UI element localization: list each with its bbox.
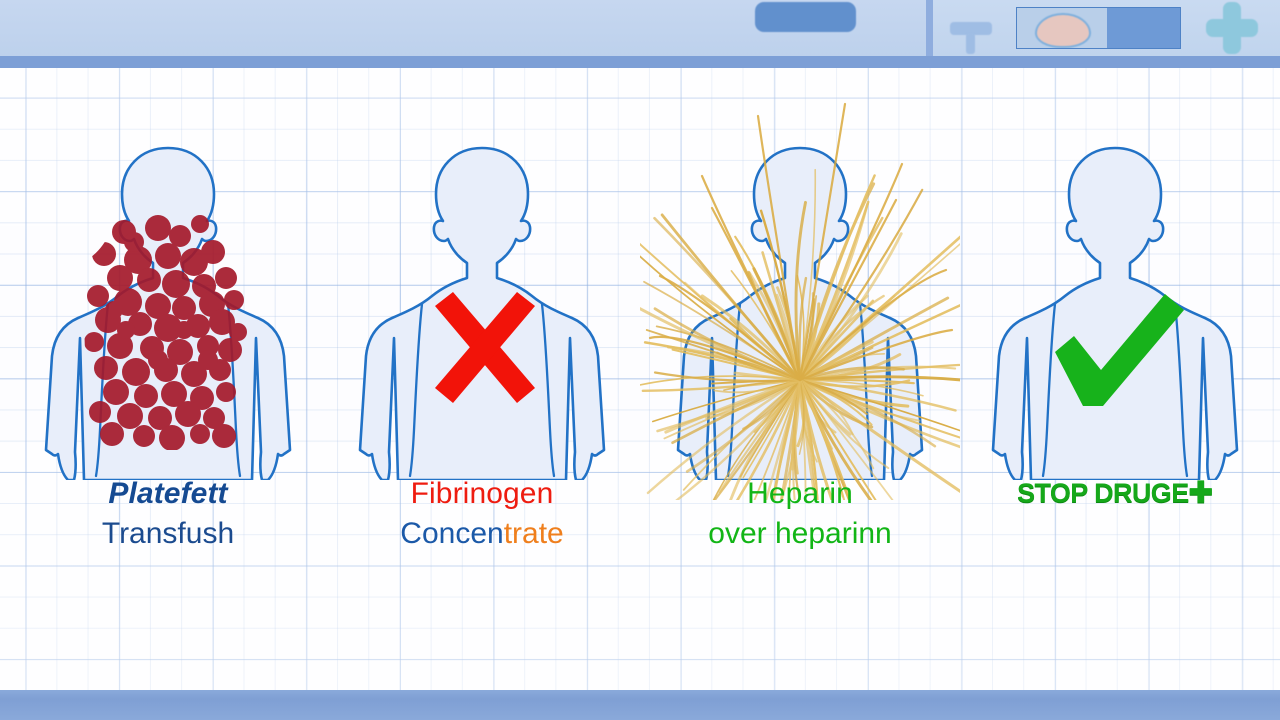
plus-cross-icon[interactable] — [1206, 2, 1258, 54]
caption-line-1: STOP DRUGE✚ — [955, 478, 1275, 508]
toolbar-underline-band — [0, 56, 1280, 68]
caption-line-1: Platefett — [8, 478, 328, 509]
caption-line-1: Fibrinogen — [322, 478, 642, 509]
caption-line-1: Heparin — [640, 478, 960, 509]
top-toolbar — [0, 0, 1280, 68]
caption-line-2-part-b: trate — [504, 517, 564, 550]
caption-platelet: Platefett Transfush — [8, 478, 328, 549]
toolbar-pill-button[interactable] — [755, 2, 856, 32]
panel-heparin-overdose: Heparin over heparinn — [640, 120, 960, 590]
green-check-mark — [955, 120, 1275, 480]
panel-platelet-transfusion: Platefett Transfush — [8, 120, 328, 590]
plus-cross-horizontal — [1206, 19, 1258, 37]
body-silhouette — [640, 120, 960, 480]
toolbar-divider — [926, 0, 933, 57]
caption-stop-drugs: STOP DRUGE✚ — [955, 478, 1275, 508]
bottom-bar — [0, 690, 1280, 720]
caption-line-2: Concentrate — [322, 518, 642, 549]
figure-body-plain-check — [955, 120, 1275, 480]
figure-body-with-strands — [640, 120, 960, 480]
preview-panel-blob — [1035, 13, 1091, 48]
tool-icon[interactable] — [950, 22, 992, 54]
caption-stop-text: STOP DRUGE — [1017, 478, 1189, 508]
caption-line-2: over heparinn — [640, 518, 960, 549]
panel-stop-drugs: STOP DRUGE✚ — [955, 120, 1275, 590]
red-cross-mark — [322, 120, 642, 480]
figure-body-plain-cross — [322, 120, 642, 480]
caption-stop-glyph: ✚ — [1189, 477, 1213, 509]
caption-line-2-part-a: Concen — [400, 517, 503, 550]
figure-body-with-blood-cells — [8, 120, 328, 480]
panel-fibrinogen-concentrate: Fibrinogen Concentrate — [322, 120, 642, 590]
preview-panel-icon[interactable] — [1016, 7, 1181, 49]
caption-line-2: Transfush — [8, 518, 328, 549]
caption-heparin: Heparin over heparinn — [640, 478, 960, 549]
caption-fibrinogen: Fibrinogen Concentrate — [322, 478, 642, 549]
body-silhouette — [8, 120, 328, 480]
tool-icon-handle — [966, 33, 975, 54]
